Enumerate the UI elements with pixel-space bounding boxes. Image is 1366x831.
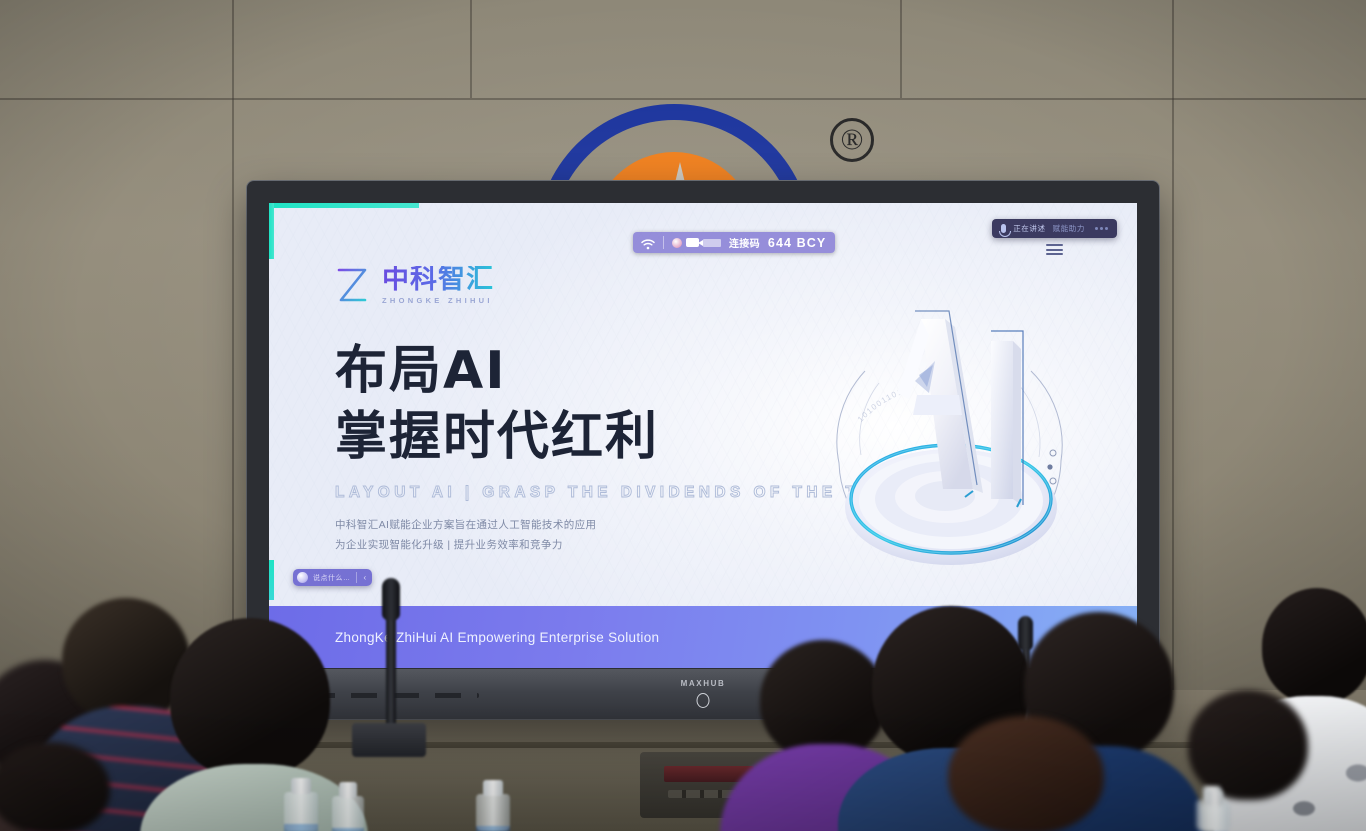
screen-share-icon[interactable] — [672, 238, 682, 248]
microphone-head — [1018, 616, 1033, 650]
slide-headline: 布局AI 掌握时代红利 — [335, 339, 659, 470]
accent-bar-left — [269, 203, 274, 259]
hamburger-menu-icon[interactable] — [1046, 244, 1063, 255]
accent-bar-top — [269, 203, 419, 208]
presentation-room-scene: ® — [0, 0, 1366, 831]
camera-icon[interactable] — [686, 238, 699, 247]
speaking-status-label: 正在讲述 — [1013, 223, 1045, 234]
water-bottle-icon — [284, 778, 318, 831]
chevron-left-icon[interactable]: ‹ — [362, 573, 369, 582]
connection-code-value: 644 BCY — [768, 236, 826, 250]
display-brand-label: MAXHUB — [681, 679, 726, 688]
slide-footer-text: ZhongKe ZhiHui AI Empowering Enterprise … — [335, 630, 659, 645]
status-icon-group[interactable] — [672, 238, 721, 248]
brand-text-block: 中科智汇 ZHONGKE ZHIHUI — [382, 266, 494, 305]
subtitle-chinese-line-2: 为企业实现智能化升级 | 提升业务效率和竞争力 — [335, 535, 596, 555]
os-status-bar[interactable]: 连接码 644 BCY — [633, 232, 835, 253]
assistant-placeholder-label: 说点什么… — [313, 573, 351, 583]
subtitle-chinese: 中科智汇AI赋能企业方案旨在通过人工智能技术的应用 为企业实现智能化升级 | 提… — [335, 515, 596, 556]
speaking-topic-label: 赋能助力 — [1053, 223, 1085, 234]
subtitle-chinese-line-1: 中科智汇AI赋能企业方案旨在通过人工智能技术的应用 — [335, 515, 596, 535]
assistant-input-pill[interactable]: 说点什么… ‹ — [293, 569, 372, 586]
brand-name-en: ZHONGKE ZHIHUI — [382, 297, 494, 305]
water-bottle-icon — [1200, 790, 1230, 831]
speaking-status-pill[interactable]: 正在讲述 赋能助力 — [992, 219, 1117, 238]
headline-line-1: 布局AI — [335, 339, 659, 405]
brand-name-cn: 中科智汇 — [382, 266, 494, 293]
status-extra-icon[interactable] — [703, 239, 721, 247]
loading-dots-icon — [1095, 227, 1108, 230]
speaking-status-group[interactable]: 正在讲述 赋能助力 — [992, 219, 1117, 255]
connection-code-label: 连接码 — [729, 235, 760, 250]
microphone-icon — [1001, 224, 1006, 233]
slide-brand-logo: 中科智汇 ZHONGKE ZHIHUI — [335, 265, 494, 305]
divider — [663, 236, 664, 249]
accent-bar-bottom-left-vertical — [269, 560, 274, 600]
power-button[interactable] — [697, 693, 710, 708]
microphone-head — [382, 578, 400, 620]
water-bottle-icon — [332, 782, 364, 831]
microphone-base — [352, 723, 426, 757]
assistant-avatar-icon — [297, 572, 308, 583]
z-monogram-icon — [335, 265, 369, 305]
headline-line-2: 掌握时代红利 — [335, 405, 659, 471]
divider — [356, 572, 357, 583]
water-bottle-icon — [476, 780, 510, 831]
ai-3d-artwork: 010101001010110101001011010 1010011010 — [769, 275, 1129, 615]
wifi-icon — [641, 237, 655, 248]
